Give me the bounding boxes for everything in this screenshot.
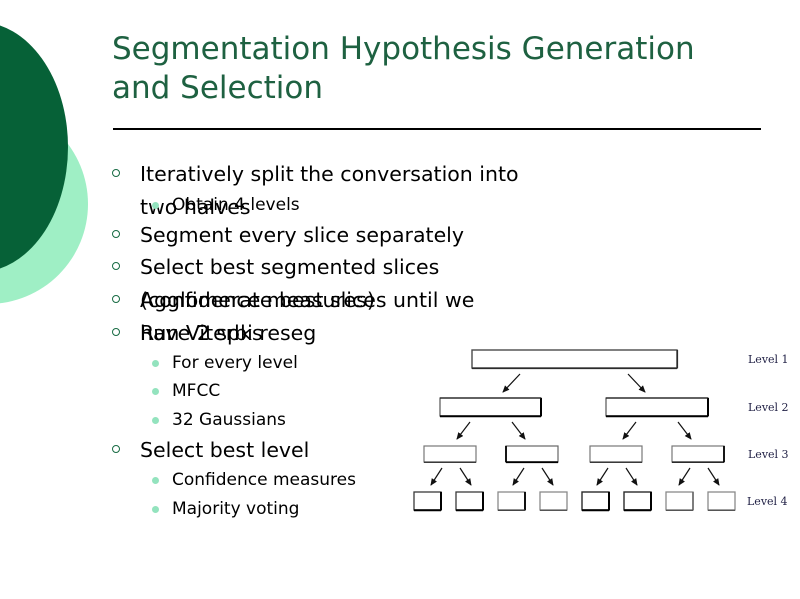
list-item: Iteratively split the conversation into … bbox=[108, 158, 528, 191]
binary-split-tree-diagram: Level 1 Level 2 Level 3 Level 4 bbox=[400, 340, 800, 540]
hollow-circle-bullet-icon bbox=[112, 262, 120, 270]
tree-level-1-boxes bbox=[472, 350, 677, 368]
light-green-circle bbox=[0, 104, 88, 304]
hollow-circle-bullet-icon bbox=[112, 328, 120, 336]
hollow-circle-bullet-icon bbox=[112, 169, 120, 177]
list-item: Obtain 4 levels bbox=[108, 191, 528, 219]
list-item-label: 32 Gaussians bbox=[172, 406, 286, 434]
tree-svg bbox=[400, 340, 800, 540]
tree-level-4-boxes bbox=[414, 492, 735, 510]
list-item-label: Segment every slice separately bbox=[140, 219, 464, 252]
list-item-label: Run Viterbi reseg bbox=[140, 317, 316, 350]
list-item-label: MFCC bbox=[172, 377, 220, 405]
filled-dot-bullet-icon bbox=[152, 202, 159, 209]
tree-level-label-4: Level 4 bbox=[747, 495, 788, 508]
hollow-circle-bullet-icon bbox=[112, 295, 120, 303]
list-item-label: For every level bbox=[172, 349, 298, 377]
filled-dot-bullet-icon bbox=[152, 360, 159, 367]
list-item-label: Select best level bbox=[140, 434, 309, 467]
tree-level-label-3: Level 3 bbox=[748, 448, 789, 461]
tree-level-2-boxes bbox=[440, 398, 708, 416]
tree-level-label-2: Level 2 bbox=[748, 401, 789, 414]
slide-title: Segmentation Hypothesis Generation and S… bbox=[112, 30, 772, 108]
list-item-label: Majority voting bbox=[172, 495, 299, 523]
filled-dot-bullet-icon bbox=[152, 477, 159, 484]
filled-dot-bullet-icon bbox=[152, 506, 159, 513]
hollow-circle-bullet-icon bbox=[112, 230, 120, 238]
filled-dot-bullet-icon bbox=[152, 388, 159, 395]
list-item: Select best segmented slices (confidence… bbox=[108, 251, 528, 284]
list-item-label: Obtain 4 levels bbox=[172, 191, 300, 219]
tree-level-3-boxes bbox=[424, 446, 724, 462]
tree-arrows-level3-to-level4 bbox=[431, 468, 719, 485]
hollow-circle-bullet-icon bbox=[112, 445, 120, 453]
tree-arrows-level1-to-level2 bbox=[503, 374, 645, 392]
list-item: Segment every slice separately bbox=[108, 219, 528, 252]
filled-dot-bullet-icon bbox=[152, 417, 159, 424]
title-divider bbox=[113, 128, 761, 130]
dark-green-circle bbox=[0, 22, 68, 272]
slide-canvas: Segmentation Hypothesis Generation and S… bbox=[0, 0, 800, 599]
list-item-label: Confidence measures bbox=[172, 466, 356, 494]
list-item: Agglomerate best slices until we have 2 … bbox=[108, 284, 528, 317]
tree-level-label-1: Level 1 bbox=[748, 353, 789, 366]
tree-arrows-level2-to-level3 bbox=[457, 422, 691, 439]
